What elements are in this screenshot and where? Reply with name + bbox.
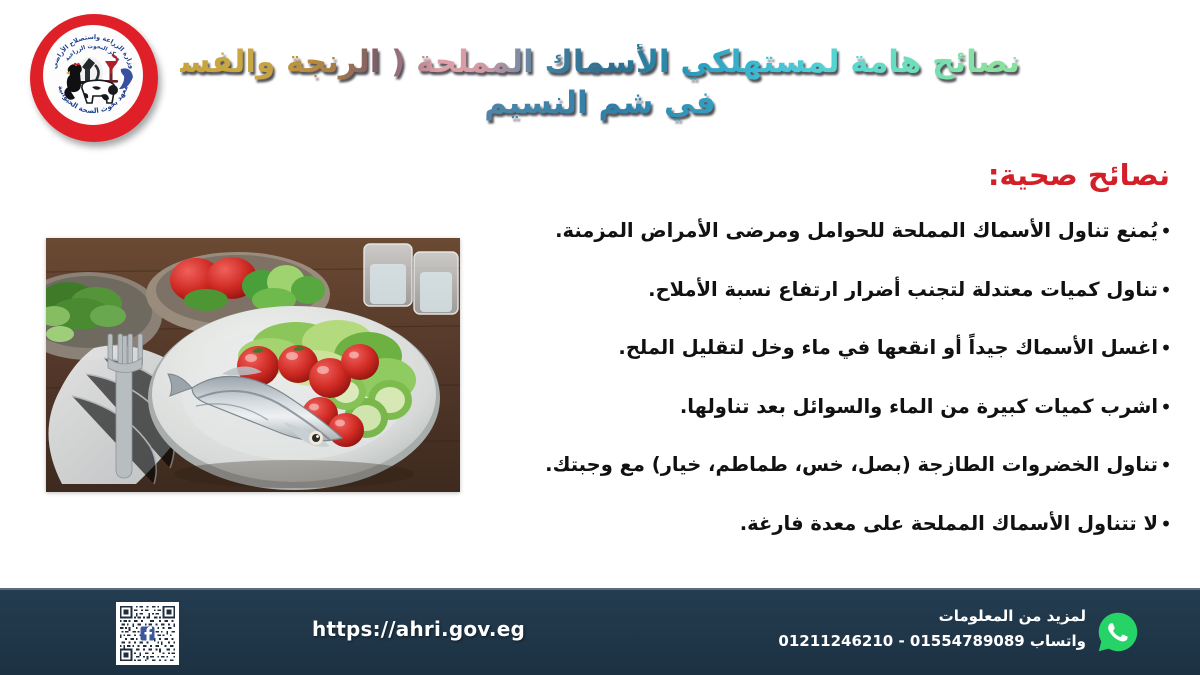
bullet-icon: • [1158,509,1174,539]
fish-and-salad-plate-photo [46,238,460,492]
bullet-icon: • [1158,216,1174,246]
poster-title: نصائح هامة لمستهلكي الأسماك المملحة ( ال… [180,44,1020,121]
list-item: • يُمنع تناول الأسماك المملحة للحوامل وم… [454,216,1174,275]
title-line-2: في شم النسيم [180,85,1020,122]
tip-text: اشرب كميات كبيرة من الماء والسوائل بعد ت… [680,392,1158,422]
health-tips-list: • يُمنع تناول الأسماك المملحة للحوامل وم… [454,216,1174,567]
whatsapp-numbers: واتساب 01554789089 - 01211246210 [778,628,1086,654]
list-item: • تناول الخضروات الطازجة (بصل، خس، طماطم… [454,450,1174,509]
section-heading-health-tips: نصائح صحية: [988,158,1170,192]
whatsapp-icon[interactable] [1096,610,1140,654]
bullet-icon: • [1158,392,1174,422]
bullet-icon: • [1158,275,1174,305]
bullet-icon: • [1158,450,1174,480]
more-info-label: لمزيد من المعلومات [778,604,1086,628]
list-item: • اغسل الأسماك جيداً أو انقعها في ماء وخ… [454,333,1174,392]
list-item: • اشرب كميات كبيرة من الماء والسوائل بعد… [454,392,1174,451]
tip-text: تناول كميات معتدلة لتجنب أضرار ارتفاع نس… [648,275,1158,305]
tip-text: تناول الخضروات الطازجة (بصل، خس، طماطم، … [545,450,1158,480]
tip-text: اغسل الأسماك جيداً أو انقعها في ماء وخل … [618,333,1158,363]
list-item: • تناول كميات معتدلة لتجنب أضرار ارتفاع … [454,275,1174,334]
facebook-icon [140,626,154,640]
photo-illustration [46,238,460,492]
contact-info: لمزيد من المعلومات واتساب 01554789089 - … [778,604,1086,654]
tip-text: يُمنع تناول الأسماك المملحة للحوامل ومرض… [555,216,1158,246]
title-line-1: نصائح هامة لمستهلكي الأسماك المملحة ( ال… [180,44,1020,81]
facebook-qr-code[interactable] [116,602,179,665]
poster-root: وزارة الزراعة واستصلاح الأراضي مركز البح… [0,0,1200,675]
footer-divider [0,588,1200,590]
bullet-icon: • [1158,333,1174,363]
list-item: • لا تتناول الأسماك المملحة على معدة فار… [454,509,1174,568]
whatsapp-glyph-icon [1096,610,1140,654]
website-url-link[interactable]: https://ahri.gov.eg [312,617,525,641]
qr-code-icon [118,604,177,663]
tip-text: لا تتناول الأسماك المملحة على معدة فارغة… [740,509,1158,539]
footer-bar: https://ahri.gov.eg لمزيد من المعلومات و… [0,588,1200,675]
